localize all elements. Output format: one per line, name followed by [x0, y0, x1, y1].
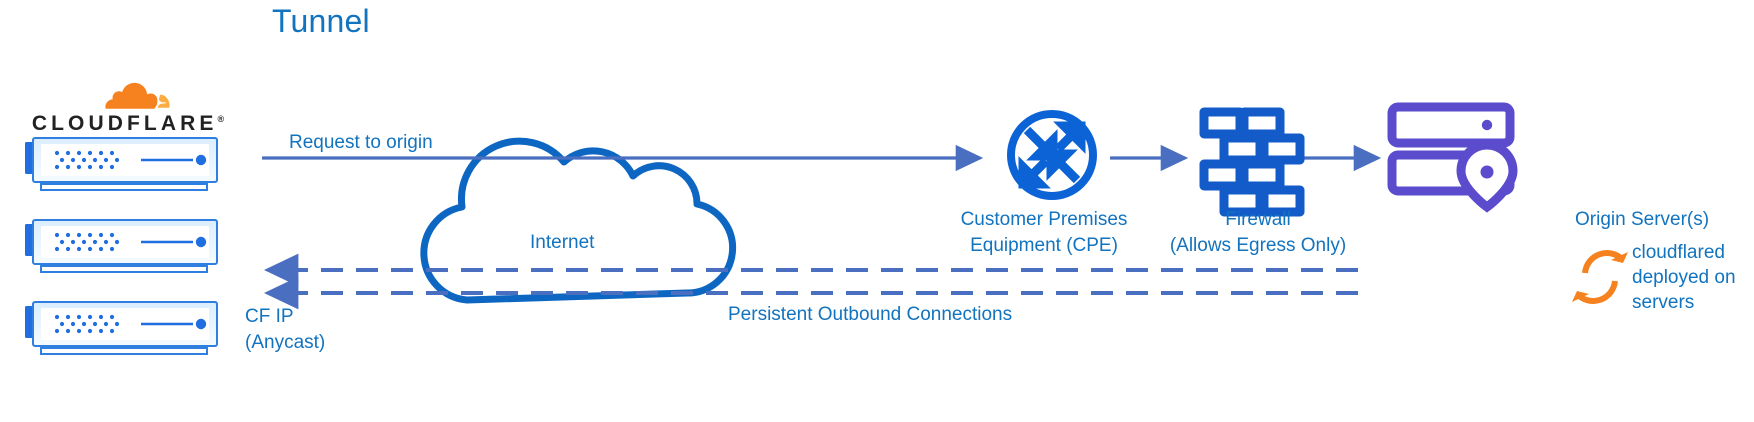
label-cpe-line1: Customer Premises — [948, 207, 1140, 233]
label-firewall-line1: Firewall — [1160, 207, 1356, 233]
label-request-to-origin: Request to origin — [289, 130, 433, 156]
label-cpe: Customer Premises Equipment (CPE) — [948, 207, 1140, 259]
four-arrows-circle-icon — [1011, 114, 1093, 196]
circular-arrows-refresh-icon — [1572, 252, 1628, 302]
server-rack-icon-1 — [25, 136, 225, 198]
label-cf-ip-line2: (Anycast) — [245, 330, 365, 356]
label-firewall: Firewall (Allows Egress Only) — [1160, 207, 1356, 259]
label-cloudflared-line3: servers — [1632, 290, 1754, 315]
label-persistent-outbound-connections: Persistent Outbound Connections — [728, 302, 1012, 328]
label-cf-ip-line1: CF IP — [245, 304, 365, 330]
diagram-vector-layer — [0, 0, 1754, 422]
cloudflare-wordmark-text: CLOUDFLARE — [32, 112, 218, 135]
label-firewall-line2: (Allows Egress Only) — [1160, 233, 1356, 259]
server-rack-icon-3 — [25, 300, 225, 362]
server-location-pin-icon — [1392, 107, 1513, 207]
label-cloudflared-line2: deployed on — [1632, 265, 1754, 290]
label-cf-ip: CF IP (Anycast) — [245, 304, 365, 356]
cloud-outline-icon — [424, 141, 733, 300]
label-origin-server: Origin Server(s) — [1575, 207, 1735, 233]
page-title: Tunnel — [272, 8, 370, 34]
registered-trademark-icon: ® — [218, 114, 225, 124]
label-cloudflared-line1: cloudflared — [1632, 240, 1754, 265]
diagram-canvas: Tunnel CLOUDFLARE® — [0, 0, 1754, 422]
server-rack-icon-2 — [25, 218, 225, 280]
label-cpe-line2: Equipment (CPE) — [948, 233, 1140, 259]
brick-wall-icon — [1204, 112, 1300, 212]
label-cloudflared: cloudflared deployed on servers — [1632, 240, 1754, 315]
label-internet: Internet — [530, 230, 594, 256]
cloudflare-wordmark: CLOUDFLARE® — [30, 112, 226, 136]
cloudflare-logo: CLOUDFLARE® — [30, 76, 226, 138]
